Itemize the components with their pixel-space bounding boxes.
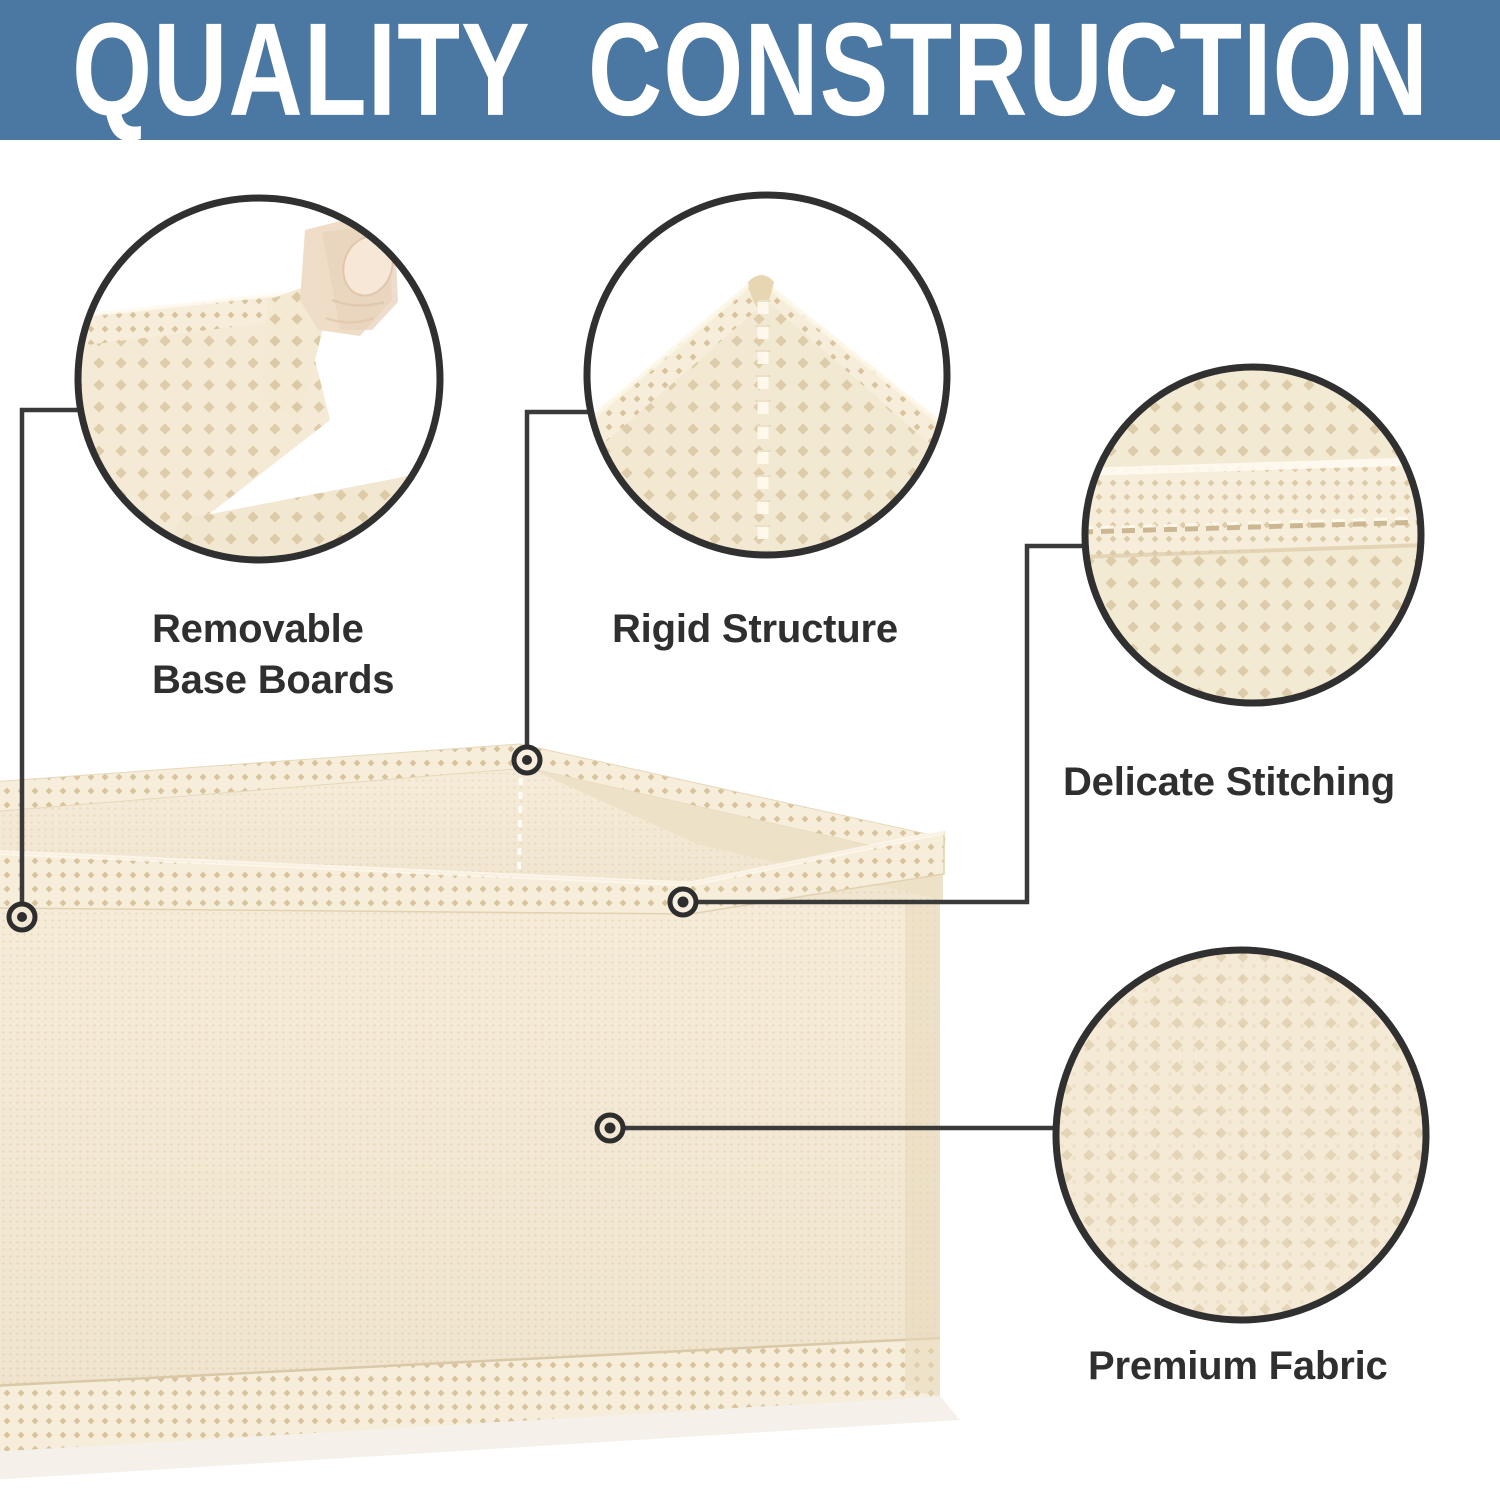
product-illustration xyxy=(0,0,1500,1500)
callout-label-delicate-stitching: Delicate Stitching xyxy=(1063,757,1395,808)
callout-label-removable-base-boards: Removable Base Boards xyxy=(152,604,394,706)
callout-label-premium-fabric: Premium Fabric xyxy=(1088,1341,1388,1392)
callout-circle-premium-fabric xyxy=(1056,950,1426,1320)
callout-circle-removable-base-boards xyxy=(60,198,440,562)
callout-circle-rigid-structure xyxy=(556,195,972,560)
storage-bin-photo xyxy=(0,744,960,1480)
bin-right-edge-shade xyxy=(905,900,940,1396)
infographic-canvas: QUALITY CONSTRUCTION xyxy=(0,0,1500,1500)
anchor-dot-premium-fabric xyxy=(597,1115,623,1141)
anchor-dot-delicate-stitching xyxy=(670,889,696,915)
bin-corner-stitch xyxy=(519,764,521,880)
callout-circle-delicate-stitching xyxy=(1080,367,1425,703)
anchor-dot-removable-base-boards xyxy=(9,904,35,930)
callout-label-rigid-structure: Rigid Structure xyxy=(612,604,898,655)
anchor-dot-rigid-structure xyxy=(514,747,540,773)
leader-line-rigid-structure xyxy=(527,412,594,755)
